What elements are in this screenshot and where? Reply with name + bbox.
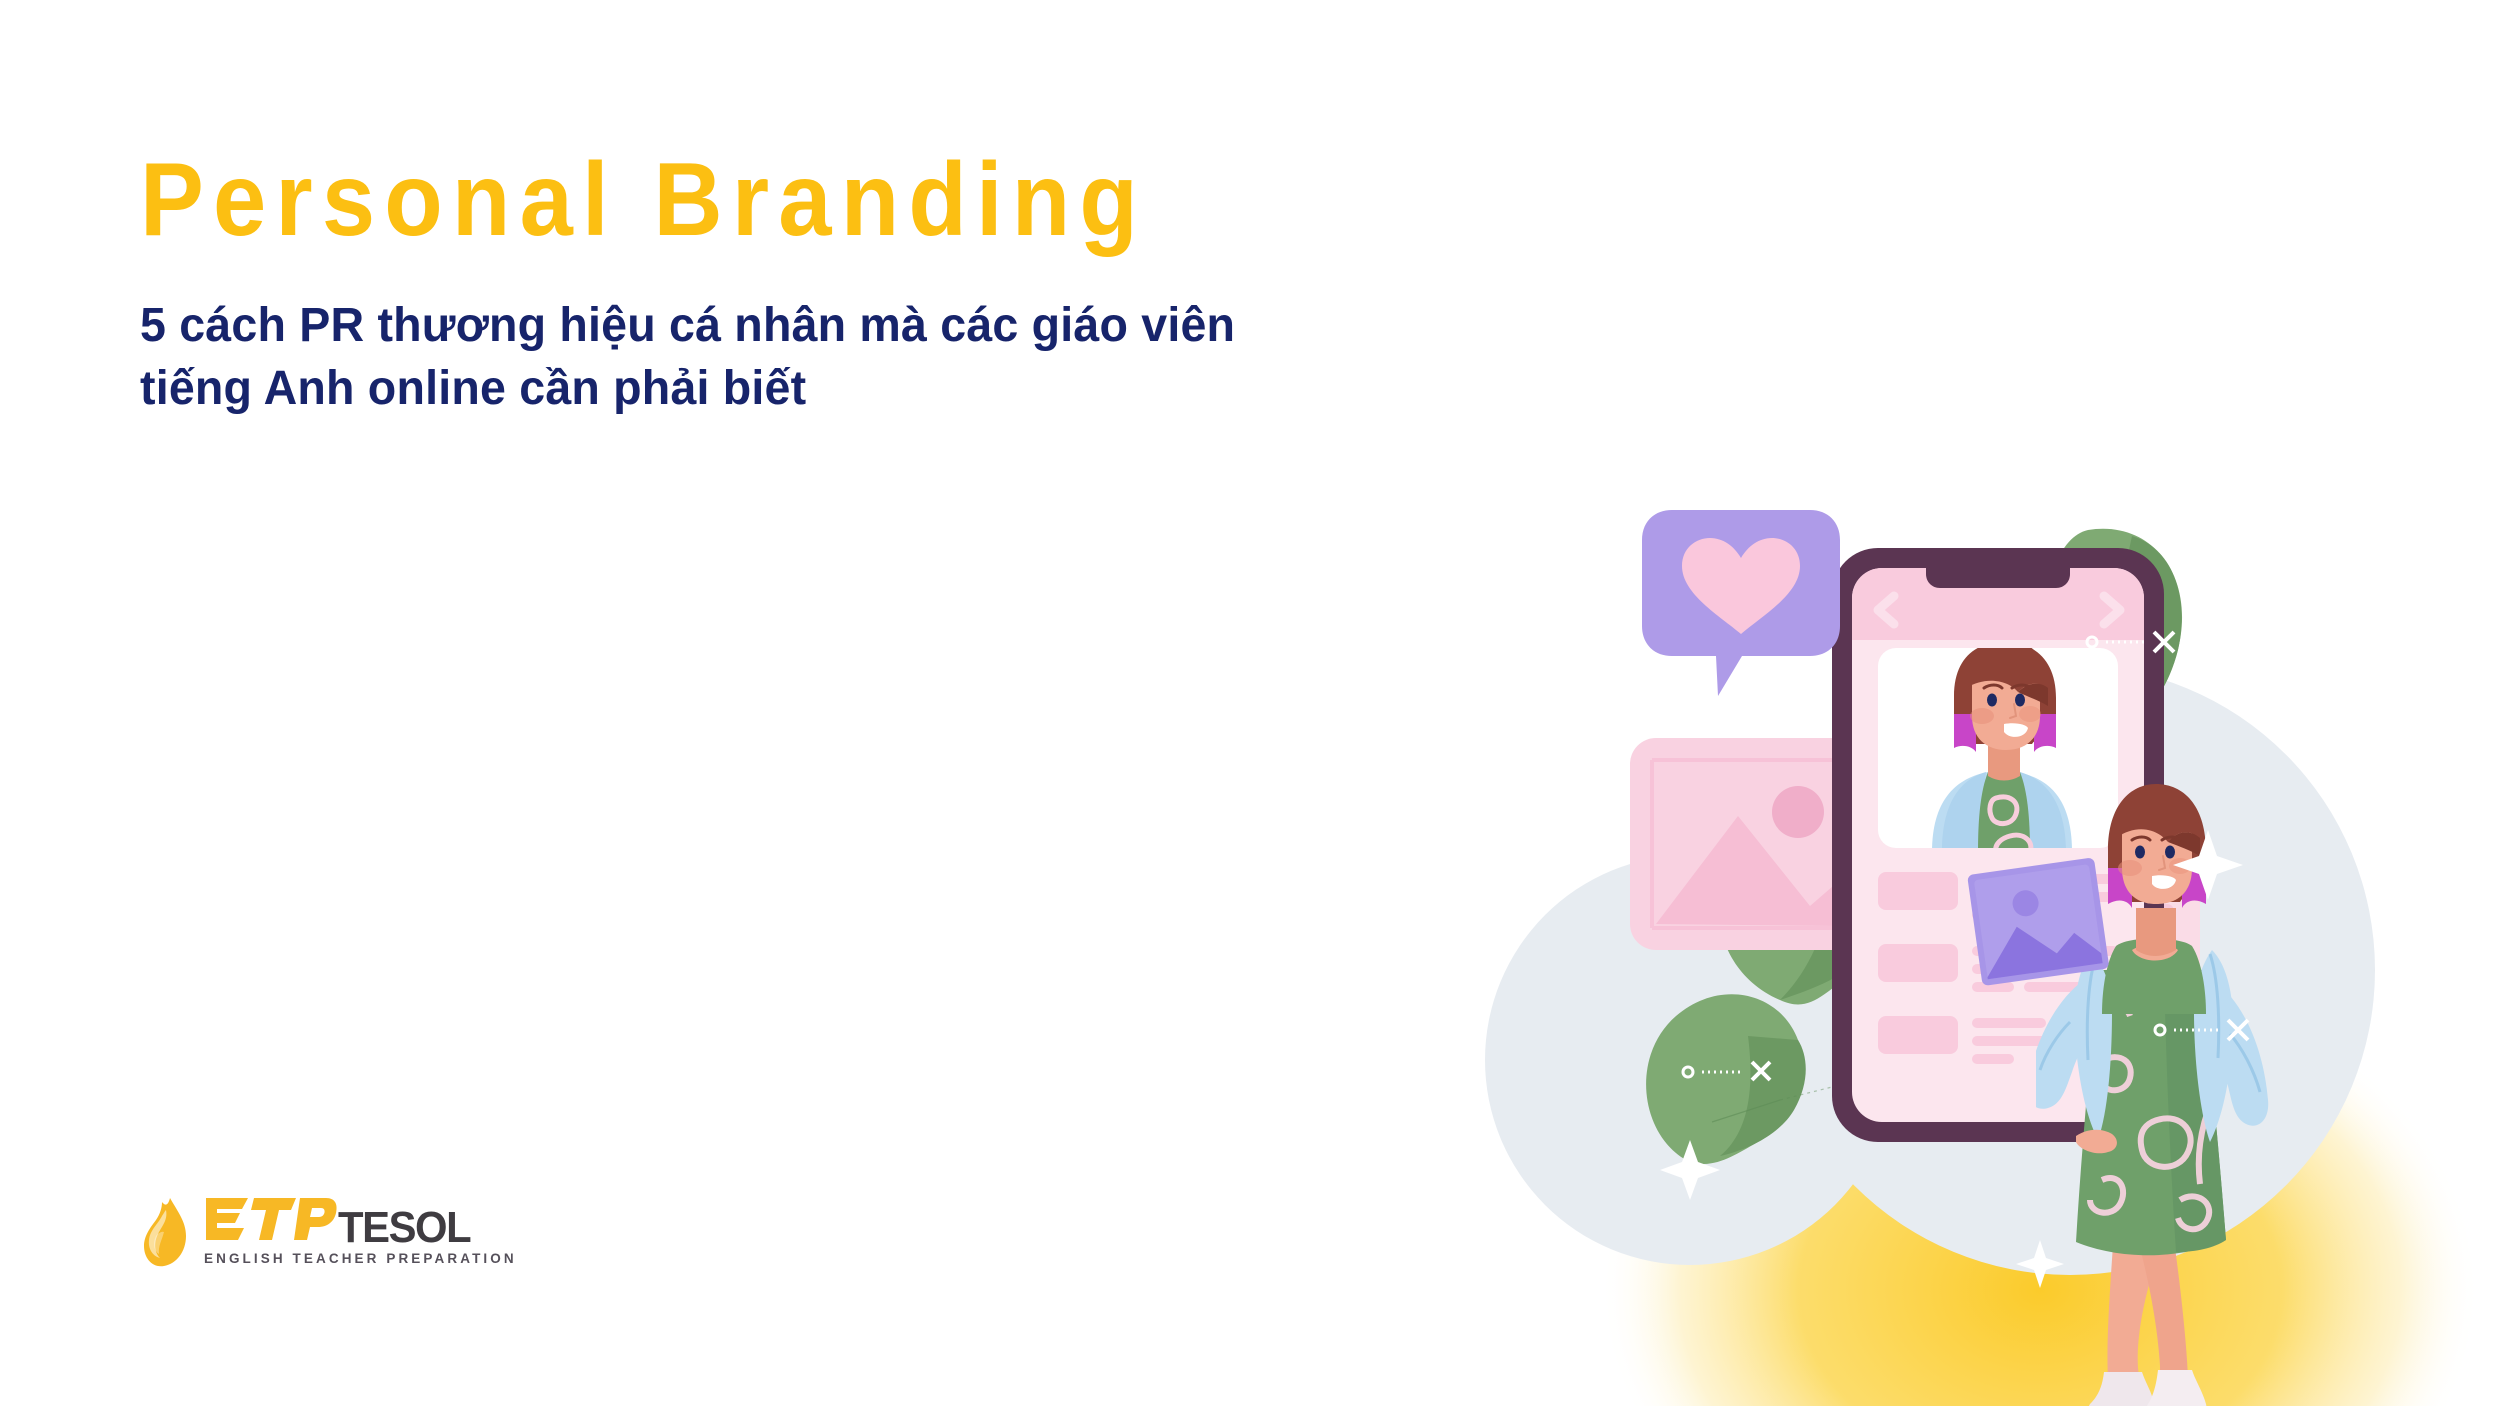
headline-block: Personal Branding 5 cách PR thương hiệu … xyxy=(140,148,1740,421)
illustration xyxy=(1480,500,2500,1406)
logo-text-group: TESOL ENGLISH TEACHER PREPARATION xyxy=(204,1196,517,1266)
held-photo-card xyxy=(1967,857,2109,986)
etp-mark-icon xyxy=(204,1196,338,1242)
logo-tagline: ENGLISH TEACHER PREPARATION xyxy=(204,1251,517,1266)
logo-wordmark: TESOL xyxy=(204,1196,517,1246)
sun-icon xyxy=(1772,786,1824,838)
logo-tesol-text: TESOL xyxy=(338,1205,470,1251)
poster-canvas: Personal Branding 5 cách PR thương hiệu … xyxy=(0,0,2500,1406)
image-placeholder-card xyxy=(1630,738,1860,950)
subtitle-line-1: 5 cách PR thương hiệu cá nhân mà các giá… xyxy=(140,294,1692,357)
speech-bubble xyxy=(1642,510,1840,696)
page-title: Personal Branding xyxy=(140,148,1612,252)
etp-tesol-logo: TESOL ENGLISH TEACHER PREPARATION xyxy=(140,1196,517,1272)
subtitle-line-2: tiếng Anh online cần phải biết xyxy=(140,357,1692,420)
flame-icon xyxy=(140,1196,192,1272)
page-subtitle: 5 cách PR thương hiệu cá nhân mà các giá… xyxy=(140,294,1692,421)
illustration-svg xyxy=(1480,500,2500,1406)
